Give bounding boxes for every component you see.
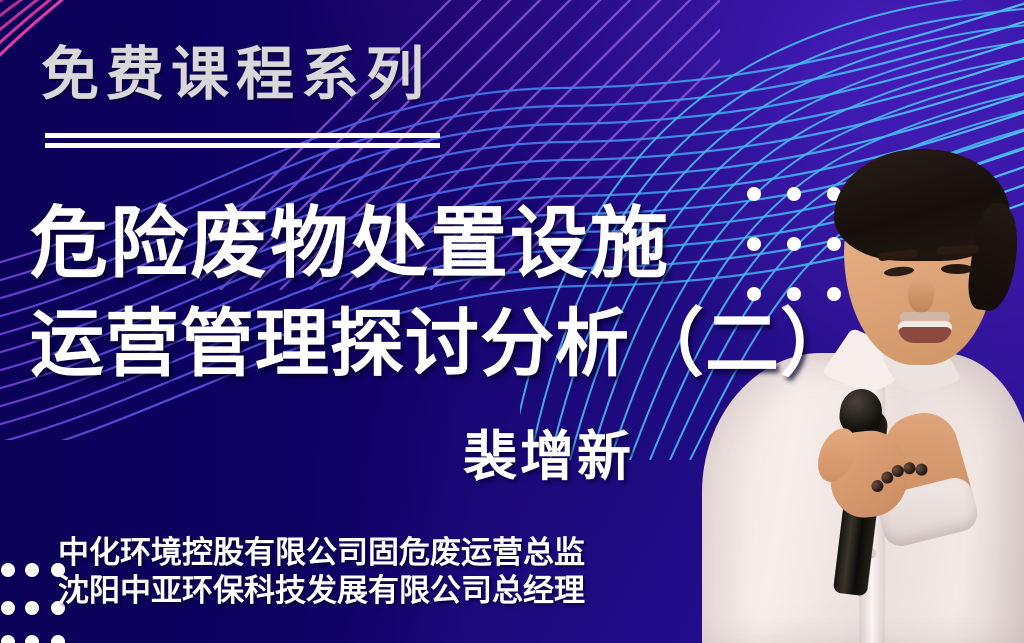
page-title-line-1: 危险废物处置设施 — [30, 205, 670, 283]
speaker-name: 裴增新 — [463, 430, 634, 484]
speaker-eye-right — [941, 264, 973, 274]
speaker-nose — [908, 279, 934, 313]
kicker-label: 免费课程系列 — [41, 46, 431, 104]
speaker-mouth — [898, 321, 952, 343]
speaker-credential-1: 中化环境控股有限公司固危废运营总监 — [58, 537, 585, 568]
speaker-credential-2: 沈阳中亚环保科技发展有限公司总经理 — [58, 575, 585, 606]
course-poster: 免费课程系列 危险废物处置设施 运营管理探讨分析（二） 裴增新 中化环境控股有限… — [0, 0, 1024, 643]
page-title-line-2: 运营管理探讨分析（二） — [30, 308, 855, 382]
divider-rule-top — [45, 133, 440, 138]
divider-rule-bottom — [45, 143, 440, 148]
